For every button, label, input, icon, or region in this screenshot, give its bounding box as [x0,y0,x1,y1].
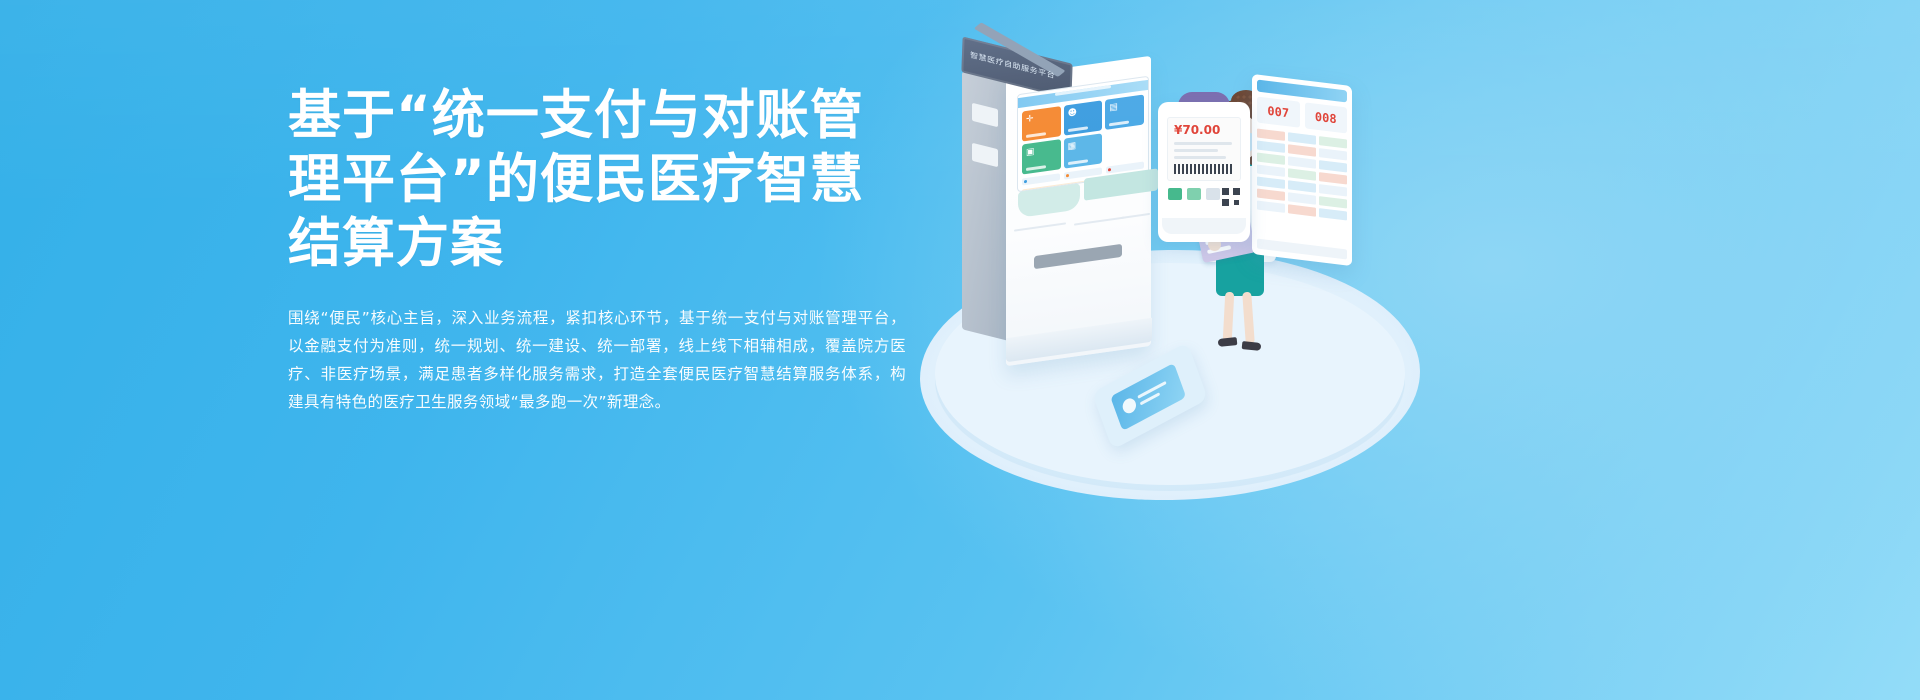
terminal-base [1162,218,1246,234]
hero-illustration: 智慧医疗自助服务平台 ✛ ☻ ▤ ▣ ▦ [900,10,1920,700]
kiosk-tile-registration: ✛ [1022,106,1061,141]
queue-number-next: 008 [1305,102,1348,133]
receipt-barcode [1174,164,1234,174]
terminal-key-1 [1168,188,1182,200]
queue-numbers: 007 008 [1257,96,1347,133]
self-service-kiosk: 智慧医疗自助服务平台 ✛ ☻ ▤ ▣ ▦ [962,50,1177,350]
queue-display-board: 007 008 [1252,74,1352,266]
terminal-key-2 [1187,188,1201,200]
kiosk-tile-query: ☻ [1064,100,1103,135]
payment-terminal: ¥70.00 [1158,102,1250,242]
receipt-paper: ¥70.00 [1168,118,1240,180]
doctor-shoe-left [1218,337,1238,347]
queue-number-current: 007 [1257,96,1300,127]
doctor-shoe-right [1242,341,1262,351]
doctor-leg-right [1242,292,1255,345]
receipt-amount: ¥70.00 [1174,123,1220,137]
queue-table [1257,128,1347,223]
hero-banner: 基于“统一支付与对账管 理平台”的便民医疗智慧 结算方案 围绕“便民”核心主旨，… [0,0,1920,700]
terminal-keypad [1168,188,1220,200]
kiosk-tile-report: ▤ [1105,94,1144,129]
hero-description: 围绕“便民”核心主旨，深入业务流程，紧扣核心环节，基于统一支付与对账管理平台，以… [288,304,906,416]
hero-text-column: 基于“统一支付与对账管 理平台”的便民医疗智慧 结算方案 围绕“便民”核心主旨，… [288,84,908,416]
kiosk-tile-appointment: ▦ [1064,133,1103,168]
qr-code-icon [1222,188,1240,206]
terminal-body: ¥70.00 [1158,102,1250,242]
queue-board-body: 007 008 [1252,74,1352,266]
doctor-leg-left [1223,292,1235,342]
terminal-key-3 [1206,188,1220,200]
page-title: 基于“统一支付与对账管 理平台”的便民医疗智慧 结算方案 [288,84,908,276]
kiosk-tile-archive: ▣ [1022,139,1061,174]
